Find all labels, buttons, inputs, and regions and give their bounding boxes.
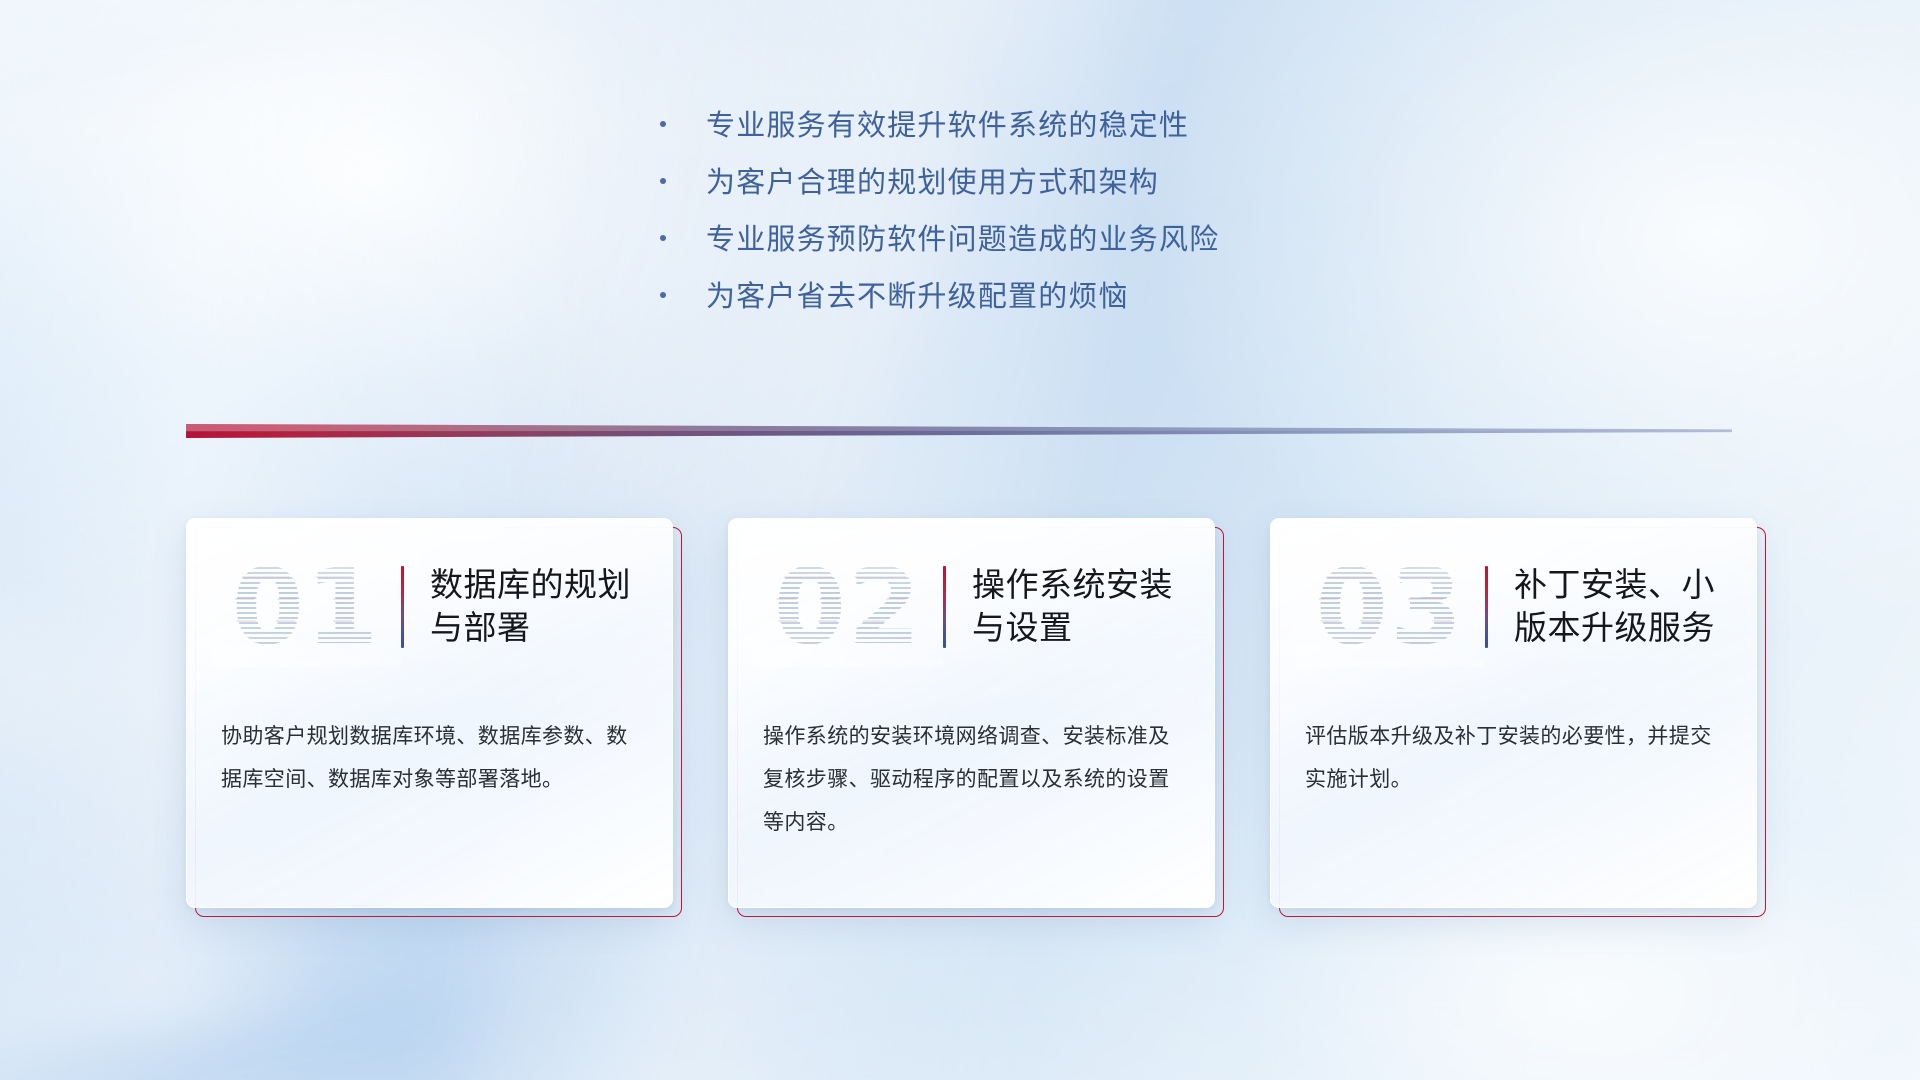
card-number-watermark: 01 01 — [211, 547, 401, 667]
card-header: 01 01 数据库的规划与部署 — [187, 541, 672, 673]
card-title: 操作系统安装与设置 — [972, 564, 1214, 650]
slide-canvas: 专业服务有效提升软件系统的稳定性 为客户合理的规划使用方式和架构 专业服务预防软… — [0, 0, 1920, 1080]
card-description: 协助客户规划数据库环境、数据库参数、数据库空间、数据库对象等部署落地。 — [221, 715, 642, 801]
list-item: 为客户合理的规划使用方式和架构 — [660, 169, 1219, 198]
card-header: 02 02 操作系统安装与设置 — [729, 541, 1214, 673]
card-title: 补丁安装、小版本升级服务 — [1514, 564, 1756, 650]
section-divider — [186, 424, 1732, 438]
card-description: 操作系统的安装环境网络调查、安装标准及复核步骤、驱动程序的配置以及系统的设置等内… — [763, 715, 1184, 844]
bullet-label: 为客户省去不断升级配置的烦恼 — [706, 283, 1129, 312]
bullet-dot-icon — [660, 121, 666, 127]
bullet-dot-icon — [660, 292, 666, 298]
card-surface: 03 03 补丁安装、小版本升级服务 评估版本升级及补丁安装的必要性，并提交实施… — [1270, 518, 1757, 908]
card-title-accent-bar — [1485, 566, 1488, 648]
card-number-fade — [211, 547, 401, 667]
service-card-01[interactable]: 01 01 数据库的规划与部署 协助客户规划数据库环境、数据库参数、数据库空间、… — [186, 518, 673, 908]
bullet-label: 为客户合理的规划使用方式和架构 — [706, 169, 1159, 198]
benefit-bullet-list: 专业服务有效提升软件系统的稳定性 为客户合理的规划使用方式和架构 专业服务预防软… — [660, 112, 1219, 340]
list-item: 为客户省去不断升级配置的烦恼 — [660, 283, 1219, 312]
card-number-watermark: 02 02 — [753, 547, 943, 667]
service-card-02[interactable]: 02 02 操作系统安装与设置 操作系统的安装环境网络调查、安装标准及复核步骤、… — [728, 518, 1215, 908]
list-item: 专业服务预防软件问题造成的业务风险 — [660, 226, 1219, 255]
card-number-watermark: 03 03 — [1295, 547, 1485, 667]
card-surface: 01 01 数据库的规划与部署 协助客户规划数据库环境、数据库参数、数据库空间、… — [186, 518, 673, 908]
card-surface: 02 02 操作系统安装与设置 操作系统的安装环境网络调查、安装标准及复核步骤、… — [728, 518, 1215, 908]
service-card-03[interactable]: 03 03 补丁安装、小版本升级服务 评估版本升级及补丁安装的必要性，并提交实施… — [1270, 518, 1757, 908]
card-title-accent-bar — [401, 566, 404, 648]
card-title: 数据库的规划与部署 — [430, 564, 672, 650]
bullet-label: 专业服务预防软件问题造成的业务风险 — [706, 226, 1219, 255]
bullet-label: 专业服务有效提升软件系统的稳定性 — [706, 112, 1189, 141]
card-number-fade — [1295, 547, 1485, 667]
card-title-accent-bar — [943, 566, 946, 648]
bullet-dot-icon — [660, 235, 666, 241]
bullet-dot-icon — [660, 178, 666, 184]
service-card-row: 01 01 数据库的规划与部署 协助客户规划数据库环境、数据库参数、数据库空间、… — [186, 518, 1757, 908]
card-description: 评估版本升级及补丁安装的必要性，并提交实施计划。 — [1305, 715, 1726, 801]
card-header: 03 03 补丁安装、小版本升级服务 — [1271, 541, 1756, 673]
card-number-fade — [753, 547, 943, 667]
list-item: 专业服务有效提升软件系统的稳定性 — [660, 112, 1219, 141]
